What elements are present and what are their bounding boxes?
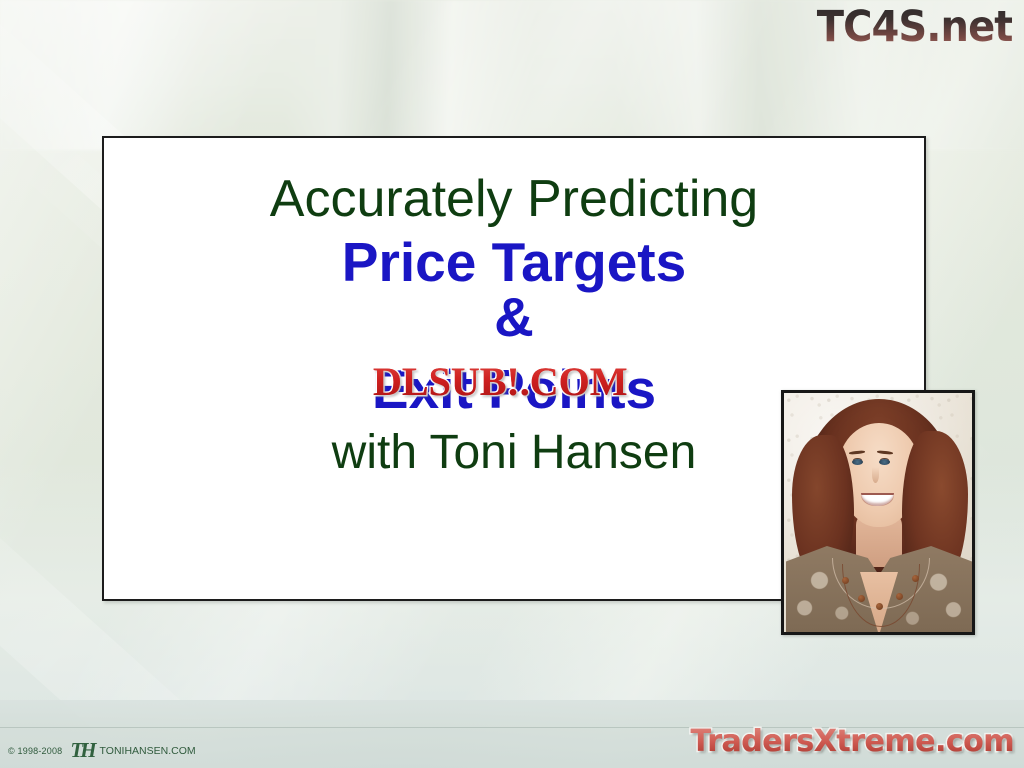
portrait-eye-right bbox=[879, 459, 890, 465]
presenter-portrait-photo bbox=[781, 390, 975, 635]
portrait-necklace-bead bbox=[858, 595, 865, 602]
copyright-years: © 1998-2008 bbox=[8, 746, 62, 756]
tradersxtreme-logo-outline: TradersXtreme.com bbox=[691, 724, 1014, 759]
dlsub-watermark-outline: DLSUB!.COM bbox=[373, 358, 627, 405]
portrait-necklace-bead bbox=[912, 575, 919, 582]
tc4s-header-logo: TC4S.net bbox=[816, 2, 1012, 52]
portrait-necklace-bead bbox=[842, 577, 849, 584]
title-line-accurately-predicting: Accurately Predicting bbox=[270, 170, 758, 228]
copyright-notice: © 1998-2008 TH TONIHANSEN.COM bbox=[8, 740, 196, 761]
tonihansen-domain-label: TONIHANSEN.COM bbox=[100, 745, 196, 757]
portrait-eye-left bbox=[852, 459, 863, 465]
title-line-presenter: with Toni Hansen bbox=[332, 426, 697, 480]
portrait-nose bbox=[872, 467, 879, 483]
portrait-necklace-bead bbox=[876, 603, 883, 610]
portrait-necklace-bead bbox=[896, 593, 903, 600]
presentation-slide: TC4S.net Accurately Predicting Price Tar… bbox=[0, 0, 1024, 768]
portrait-necklace bbox=[828, 558, 932, 626]
th-monogram-logo: TH bbox=[70, 740, 93, 761]
title-line-ampersand: & bbox=[494, 290, 534, 345]
title-line-price-targets: Price Targets bbox=[342, 232, 686, 294]
